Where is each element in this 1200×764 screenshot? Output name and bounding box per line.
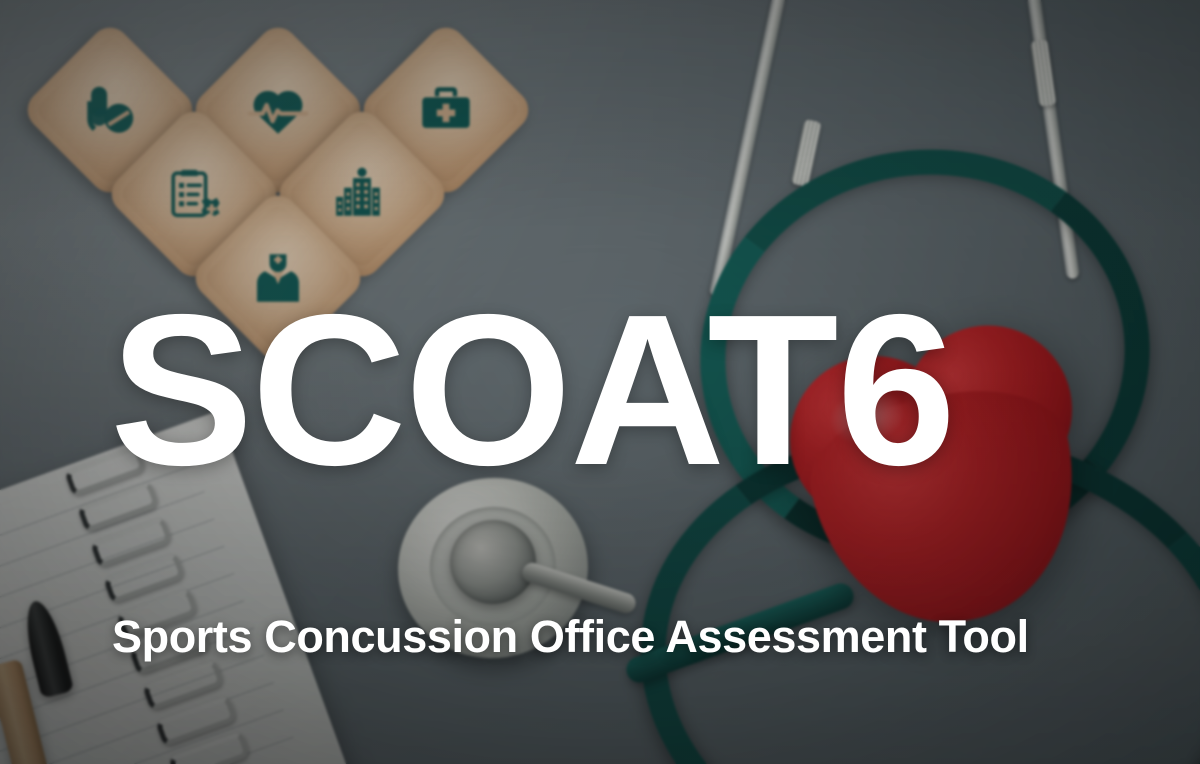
scoat6-banner: SCOAT6 Sports Concussion Office Assessme… [0,0,1200,764]
text-overlay: SCOAT6 Sports Concussion Office Assessme… [0,0,1200,764]
page-title: SCOAT6 [110,282,954,497]
page-subtitle: Sports Concussion Office Assessment Tool [112,612,1029,662]
